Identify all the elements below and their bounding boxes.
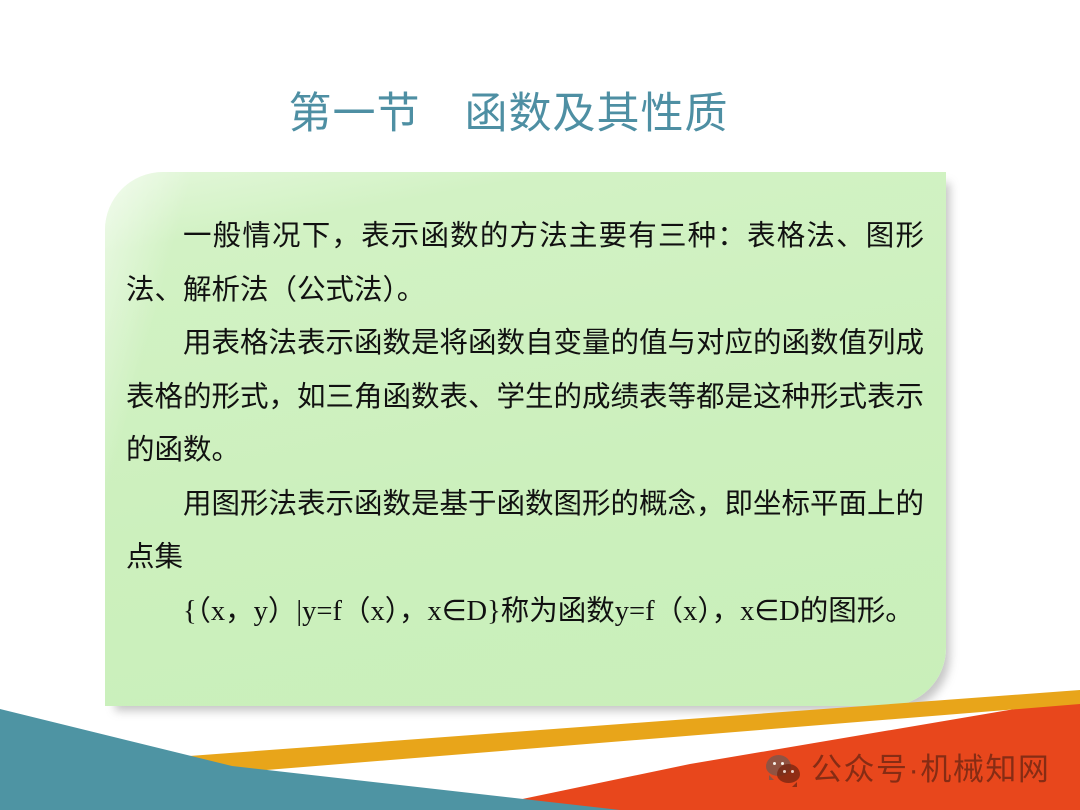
content-body: 一般情况下，表示函数的方法主要有三种：表格法、图形法、解析法（公式法）。 用表格… bbox=[105, 172, 946, 706]
paragraph-4: {（x，y）|y=f（x），x∈D}称为函数y=f（x），x∈D的图形。 bbox=[126, 585, 924, 639]
bottom-decoration bbox=[0, 690, 1080, 810]
teal-ribbon bbox=[0, 709, 620, 810]
slide-canvas: 第一节 函数及其性质 一般情况下，表示函数的方法主要有三种：表格法、图形法、解析… bbox=[0, 0, 1080, 810]
paragraph-1: 一般情况下，表示函数的方法主要有三种：表格法、图形法、解析法（公式法）。 bbox=[126, 210, 924, 317]
watermark: 公众号·机械知网 bbox=[766, 752, 1050, 788]
watermark-text: 公众号·机械知网 bbox=[811, 752, 1050, 788]
content-card: 一般情况下，表示函数的方法主要有三种：表格法、图形法、解析法（公式法）。 用表格… bbox=[105, 172, 946, 706]
paragraph-3: 用图形法表示函数是基于函数图形的概念，即坐标平面上的点集 bbox=[126, 478, 924, 585]
page-title-text: 第一节 函数及其性质 bbox=[289, 84, 729, 146]
wechat-icon bbox=[766, 755, 804, 785]
paragraph-2: 用表格法表示函数是将函数自变量的值与对应的函数值列成表格的形式，如三角函数表、学… bbox=[126, 317, 924, 478]
